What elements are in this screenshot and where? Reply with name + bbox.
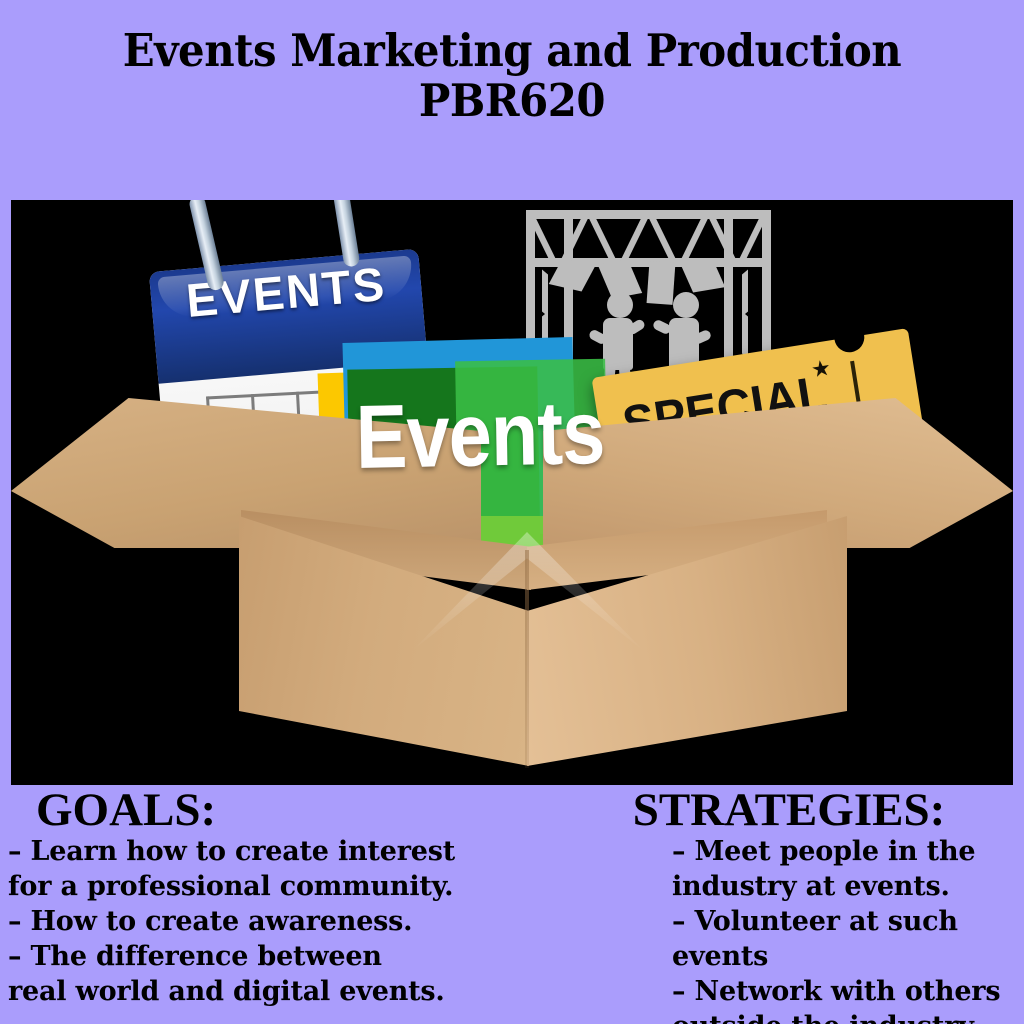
- title-line-1: Events Marketing and Production: [36, 26, 988, 76]
- page-title: Events Marketing and Production PBR620: [36, 26, 988, 126]
- strategies-heading: STRATEGIES:: [554, 786, 1024, 834]
- strategies-list: – Meet people in the industry at events.…: [672, 834, 1024, 1024]
- strategies-list-item: events: [672, 939, 1024, 974]
- strategies-list-item: – Volunteer at such: [672, 904, 1024, 939]
- truss-leg-web-l1: [542, 269, 548, 316]
- person-head: [607, 292, 633, 318]
- strategies-list-item: industry at events.: [672, 869, 1024, 904]
- goals-list-item: real world and digital events.: [8, 974, 470, 1009]
- goals-list-item: – Learn how to create interest: [8, 834, 470, 869]
- artwork-panel: EVENTS Events: [11, 200, 1013, 785]
- poster-canvas: Events Marketing and Production PBR620: [0, 0, 1024, 1024]
- strategies-list-item: – Network with others: [672, 974, 1024, 1009]
- star-icon: ★: [810, 357, 833, 382]
- goals-heading: GOALS:: [36, 786, 470, 834]
- strategies-list-item: – Meet people in the: [672, 834, 1024, 869]
- strategies-section: STRATEGIES: – Meet people in the industr…: [554, 786, 1024, 1024]
- truss-leg-web-r1: [742, 269, 748, 316]
- strategies-list-item: outside the industry.: [672, 1009, 1024, 1024]
- goals-list: – Learn how to create interest for a pro…: [8, 834, 470, 1009]
- person-head: [673, 292, 699, 318]
- truss-leg-web-r2: [742, 311, 748, 358]
- goals-list-item: – The difference between: [8, 939, 470, 974]
- ticket-notch-top: [832, 320, 866, 354]
- title-line-2: PBR620: [36, 76, 988, 126]
- goals-list-item: – How to create awareness.: [8, 904, 470, 939]
- events-cards-label: Events: [355, 383, 597, 488]
- goals-list-item: for a professional community.: [8, 869, 470, 904]
- box-center-seam: [525, 550, 529, 768]
- goals-section: GOALS: – Learn how to create interest fo…: [0, 786, 470, 1009]
